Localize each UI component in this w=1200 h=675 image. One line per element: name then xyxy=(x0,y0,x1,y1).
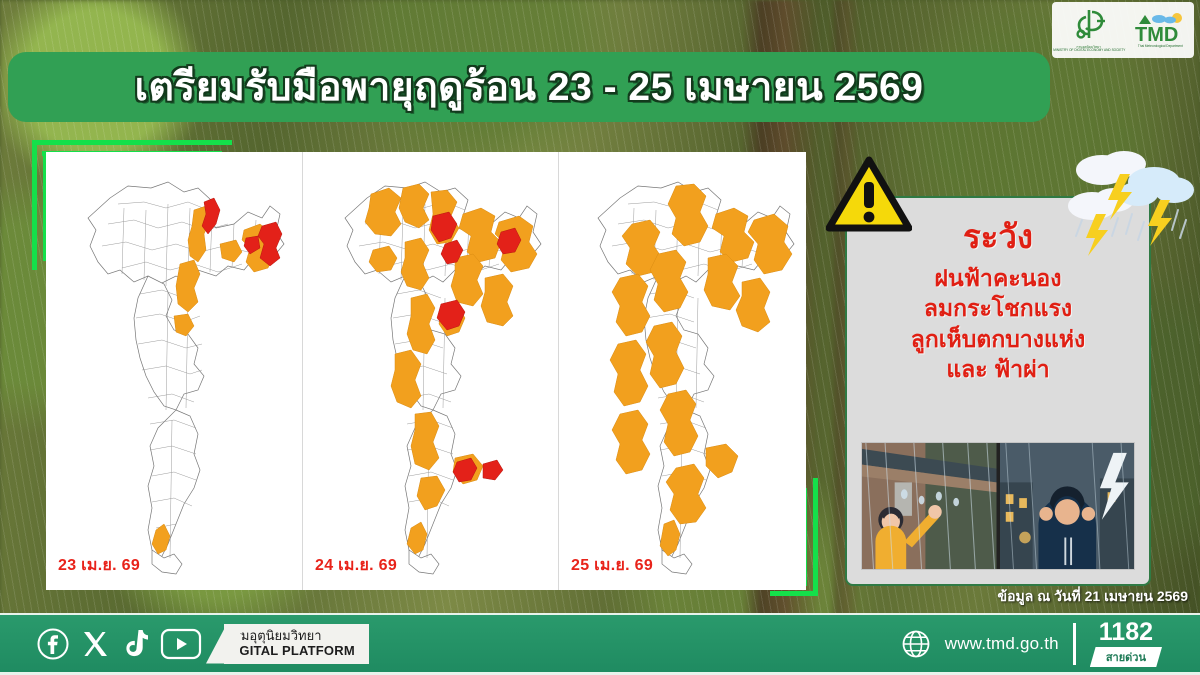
thailand-map-day3 xyxy=(558,158,807,578)
warning-triangle-icon xyxy=(826,156,912,234)
svg-text:TMD: TMD xyxy=(1135,24,1178,45)
warning-line-3: ลูกเห็บตกบางแห่ง xyxy=(911,324,1085,354)
forecast-map-panel: 23 เม.ย. 69 xyxy=(46,152,806,590)
logo-primary-subcaption: MINISTRY OF DIGITAL ECONOMY AND SOCIETY xyxy=(1053,49,1125,53)
globe-icon xyxy=(901,629,931,659)
thunderstorm-cloud-icon xyxy=(1062,148,1194,266)
logo-group: กรมอุตุนิยมวิทยา MINISTRY OF DIGITAL ECO… xyxy=(1052,2,1194,58)
footer-contact-group: www.tmd.go.th 1182 สายด่วน xyxy=(901,620,1162,667)
warning-line-2: ลมกระโชกแรง xyxy=(924,293,1072,323)
infographic-root: เตรียมรับมือพายุฤดูร้อน 23 - 25 เมษายน 2… xyxy=(0,0,1200,675)
thailand-map-day1 xyxy=(48,158,298,578)
tmd-emblem-logo: กรมอุตุนิยมวิทยา MINISTRY OF DIGITAL ECO… xyxy=(1055,7,1124,53)
map-panel-day2[interactable]: 24 เม.ย. 69 xyxy=(302,152,557,590)
map-date-label-day3: 25 เม.ย. 69 xyxy=(571,553,653,578)
safety-illustration-group xyxy=(861,442,1135,570)
website-url[interactable]: www.tmd.go.th xyxy=(945,634,1059,654)
warning-line-4: และ ฟ้าผ่า xyxy=(946,354,1049,384)
tmd-wordmark-logo: TMD Thai Meteorological Department xyxy=(1129,11,1191,49)
map-date-label-day1: 23 เม.ย. 69 xyxy=(58,553,140,578)
page-title: เตรียมรับมือพายุฤดูร้อน 23 - 25 เมษายน 2… xyxy=(135,56,924,118)
brand-tag: กรมอุตุนิยมวิทยา DIGITAL PLATFORM xyxy=(224,624,369,664)
hotline-label: สายด่วน xyxy=(1090,647,1162,667)
x-icon[interactable] xyxy=(80,629,110,659)
brand-name-th: กรมอุตุนิยมวิทยา xyxy=(226,629,355,644)
thai-meteorological-emblem-icon xyxy=(1068,7,1110,45)
hotline-number[interactable]: 1182 xyxy=(1099,620,1153,645)
map-date-label-day2: 24 เม.ย. 69 xyxy=(315,553,397,578)
illustration-woman-raincoat xyxy=(862,443,997,569)
warning-line-1: ฝนฟ้าคะนอง xyxy=(935,263,1062,293)
youtube-icon[interactable] xyxy=(160,628,202,660)
illustration-hooded-person-lightning xyxy=(1000,443,1135,569)
tmd-logo-icon: TMD xyxy=(1129,11,1191,45)
footer-bar: กรมอุตุนิยมวิทยา DIGITAL PLATFORM www.tm… xyxy=(0,613,1200,675)
tiktok-icon[interactable] xyxy=(120,628,150,660)
map-panel-day1[interactable]: 23 เม.ย. 69 xyxy=(46,152,300,590)
title-banner: เตรียมรับมือพายุฤดูร้อน 23 - 25 เมษายน 2… xyxy=(8,52,1050,122)
logo-tmd-caption: Thai Meteorological Department xyxy=(1138,45,1183,49)
social-icon-group xyxy=(36,627,202,661)
facebook-icon[interactable] xyxy=(36,627,70,661)
data-timestamp-note: ข้อมูล ณ วันที่ 21 เมษายน 2569 xyxy=(998,586,1188,608)
footer-divider xyxy=(1073,623,1076,665)
brand-name-en: DIGITAL PLATFORM xyxy=(226,644,355,659)
hotline-group: 1182 สายด่วน xyxy=(1090,620,1162,667)
person-covering-ears-icon xyxy=(1000,443,1135,569)
map-panel-day3[interactable]: 25 เม.ย. 69 xyxy=(558,152,807,590)
thailand-map-day2 xyxy=(305,158,555,578)
warning-title: ระวัง xyxy=(963,220,1033,253)
woman-under-shelter-icon xyxy=(862,443,997,569)
